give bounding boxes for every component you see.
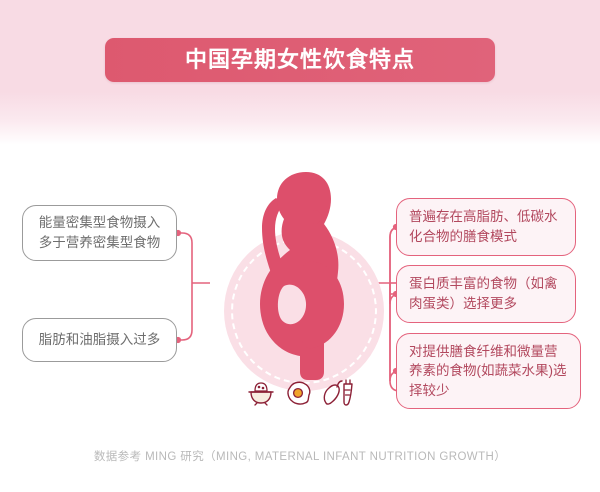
left-point-2[interactable]: 脂肪和油脂摄入过多 [22, 318, 177, 362]
right-point-1-text: 普遍存在高脂肪、低碳水化合物的膳食模式 [409, 207, 563, 246]
left-point-1-text: 能量密集型食物摄入多于营养密集型食物 [35, 213, 164, 252]
right-point-3-text: 对提供膳食纤维和微量营养素的食物(如蔬菜水果)选择较少 [409, 342, 568, 401]
right-point-3[interactable]: 对提供膳食纤维和微量营养素的食物(如蔬菜水果)选择较少 [396, 333, 581, 409]
right-point-2-text: 蛋白质丰富的食物（如禽肉蛋类）选择更多 [409, 274, 563, 313]
page-title-bar: 中国孕期女性饮食特点 [105, 38, 495, 82]
source-footnote: 数据参考 MING 研究（MING, MATERNAL INFANT NUTRI… [0, 448, 600, 464]
pregnant-woman-silhouette-icon [210, 158, 390, 388]
left-point-2-text: 脂肪和油脂摄入过多 [39, 330, 161, 350]
vegetables-icon [322, 376, 356, 406]
rice-bowl-icon [246, 378, 276, 406]
right-point-1[interactable]: 普遍存在高脂肪、低碳水化合物的膳食模式 [396, 198, 576, 256]
hero-illustration [210, 158, 390, 408]
left-point-1[interactable]: 能量密集型食物摄入多于营养密集型食物 [22, 205, 177, 261]
right-point-2[interactable]: 蛋白质丰富的食物（如禽肉蛋类）选择更多 [396, 265, 576, 323]
infographic-canvas: 中国孕期女性饮食特点 [0, 0, 600, 492]
page-title: 中国孕期女性饮食特点 [185, 49, 415, 71]
food-icon-row [226, 366, 376, 406]
fried-egg-icon [285, 380, 313, 406]
